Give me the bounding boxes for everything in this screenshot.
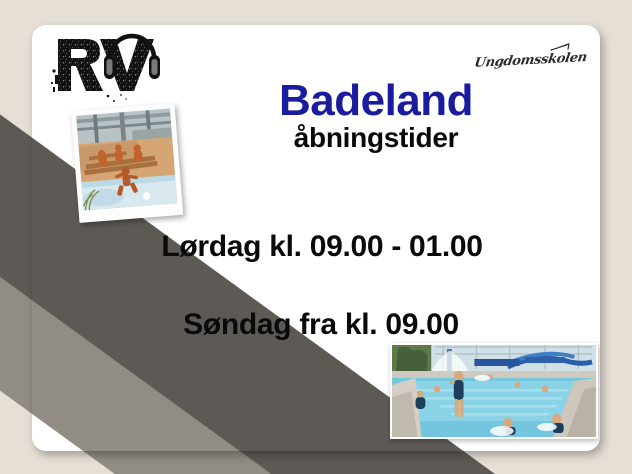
swimming-pool-photo [390,343,598,439]
rv-logo [38,25,168,107]
opening-hours-block: Lørdag kl. 09.00 - 01.00 Søndag fra kl. … [32,230,600,342]
hours-line-saturday: Lørdag kl. 09.00 - 01.00 [32,230,600,264]
slide-canvas: Ungdomsskolen Badeland åbningstider Lørd… [0,0,632,474]
beach-pool-photo-image [76,108,177,210]
ungdomsskolen-logo: Ungdomsskolen [475,43,586,67]
beach-pool-photo [71,103,183,223]
hours-line-sunday: Søndag fra kl. 09.00 [32,308,600,342]
swimming-pool-photo-image [392,345,596,437]
slide-card: Ungdomsskolen Badeland åbningstider Lørd… [32,25,600,451]
page-subtitle: åbningstider [152,122,600,154]
ungdomsskolen-wordmark: Ungdomsskolen [473,51,587,70]
page-title: Badeland [152,78,600,124]
